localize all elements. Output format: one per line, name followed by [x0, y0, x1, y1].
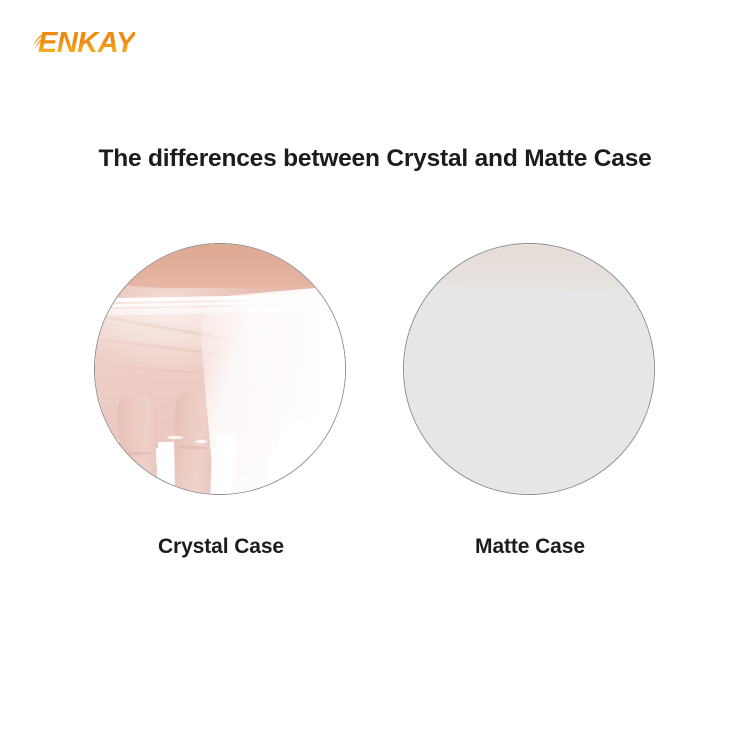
wrist-shape: [95, 244, 345, 288]
case-specular-highlight: [195, 440, 207, 443]
matte-case-caption: Matte Case: [403, 535, 657, 559]
crystal-case-scene: [95, 244, 345, 494]
matte-case-scene: [404, 244, 654, 494]
crystal-case-photo: [94, 243, 346, 495]
brand-name: ENKAY: [38, 29, 135, 58]
case-gloss-reflection: [197, 283, 345, 494]
crystal-case-caption: Crystal Case: [94, 535, 348, 559]
swoosh-accent-icon: [33, 33, 43, 55]
case-comparison-section: Crystal Case: [0, 243, 750, 573]
comparison-item-crystal: Crystal Case: [94, 243, 348, 559]
matte-case-photo: [403, 243, 655, 495]
frost-overlay: [404, 244, 654, 494]
case-specular-highlight: [167, 436, 183, 439]
page-title: The differences between Crystal and Matt…: [0, 145, 750, 173]
brand-logo: ENKAY: [33, 26, 135, 60]
comparison-item-matte: Matte Case: [403, 243, 657, 559]
